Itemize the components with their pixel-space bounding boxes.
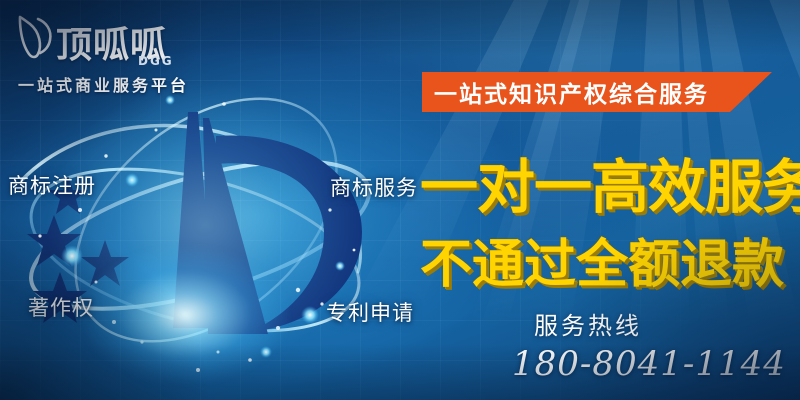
ip-emblem-svg xyxy=(10,60,390,390)
ribbon-text: 一站式知识产权综合服务 xyxy=(434,75,709,109)
brand-logo[interactable]: 顶呱呱 DGG 一站式商业服务平台 xyxy=(10,10,210,90)
service-label-copyright: 著作权 xyxy=(28,292,94,322)
emblem-group xyxy=(10,60,390,390)
ribbon-banner: 一站式知识产权综合服务 xyxy=(422,72,772,112)
hotline-label: 服务热线 xyxy=(534,306,642,341)
brand-latin: DGG xyxy=(138,54,174,68)
promotional-banner: 顶呱呱 DGG 一站式商业服务平台 商标注册 商标服务 著作权 专利申请 一站式… xyxy=(0,0,800,400)
service-label-patent-application: 专利申请 xyxy=(326,297,414,327)
dgg-leaf-mark-icon xyxy=(16,14,56,60)
hotline-number[interactable]: 180-8041-1144 xyxy=(512,344,786,384)
brand-tagline: 一站式商业服务平台 xyxy=(18,72,189,96)
headline-secondary: 不通过全额退款 xyxy=(420,222,784,297)
headline-primary: 一对一高效服务 xyxy=(420,140,800,224)
service-label-trademark-service: 商标服务 xyxy=(330,172,418,202)
service-label-trademark-registration: 商标注册 xyxy=(8,170,96,200)
